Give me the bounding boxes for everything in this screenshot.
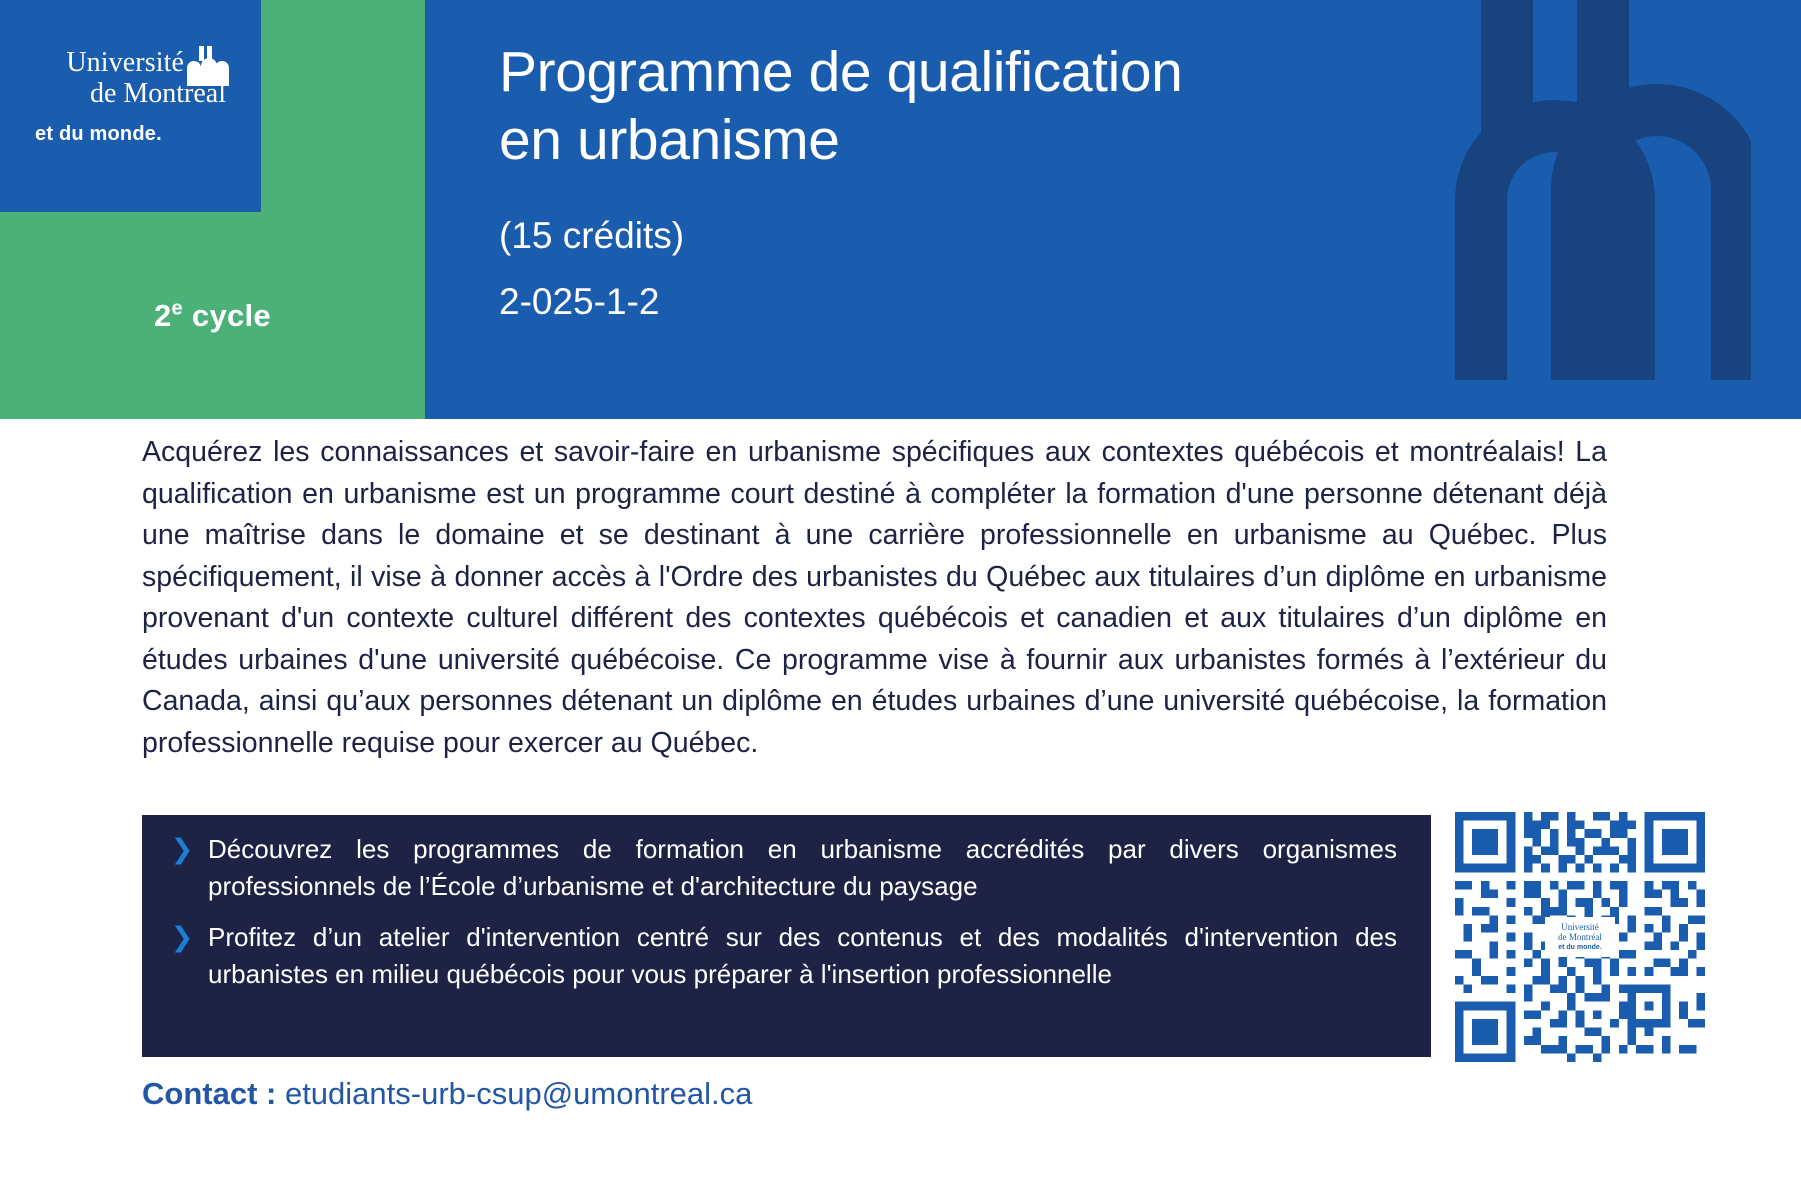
- qr-logo-line1: Université: [1561, 923, 1599, 932]
- list-item-label: Profitez d’un atelier d'intervention cen…: [208, 919, 1397, 993]
- highlights-callout: ❯ Découvrez les programmes de formation …: [142, 815, 1431, 1057]
- page-title: Programme de qualification en urbanisme: [499, 38, 1499, 174]
- list-item-label: Découvrez les programmes de formation en…: [208, 831, 1397, 905]
- program-code: 2-025-1-2: [499, 280, 1499, 324]
- program-credits: (15 crédits): [499, 214, 1499, 258]
- intro-paragraph: Acquérez les connaissances et savoir-fai…: [142, 432, 1607, 764]
- contact-label: Contact :: [142, 1076, 276, 1111]
- qr-code[interactable]: Université de Montréal et du monde.: [1455, 812, 1705, 1062]
- udem-mark-icon: [186, 46, 230, 86]
- chevron-right-icon: ❯: [168, 919, 196, 956]
- chevron-right-icon: ❯: [168, 831, 196, 868]
- udem-logo: Université de Montréal et du monde.: [35, 48, 230, 168]
- qr-center-logo: Université de Montréal et du monde.: [1545, 917, 1615, 957]
- header-banner: Université de Montréal et du monde. 2e c…: [0, 0, 1801, 419]
- cycle-text: 2e cycle: [154, 298, 271, 334]
- cycle-badge: 2e cycle: [0, 212, 425, 419]
- qr-logo-line3: et du monde.: [1558, 943, 1602, 952]
- contact-line: Contact : etudiants-urb-csup@umontreal.c…: [142, 1075, 752, 1113]
- logo-panel: Université de Montréal et du monde.: [0, 0, 261, 212]
- qr-logo-line2: de Montréal: [1558, 932, 1602, 942]
- header-text-block: Programme de qualification en urbanisme …: [499, 38, 1499, 324]
- logo-tagline: et du monde.: [35, 122, 230, 146]
- list-item: ❯ Profitez d’un atelier d'intervention c…: [168, 919, 1397, 993]
- contact-email-link[interactable]: etudiants-urb-csup@umontreal.ca: [285, 1076, 752, 1111]
- list-item: ❯ Découvrez les programmes de formation …: [168, 831, 1397, 905]
